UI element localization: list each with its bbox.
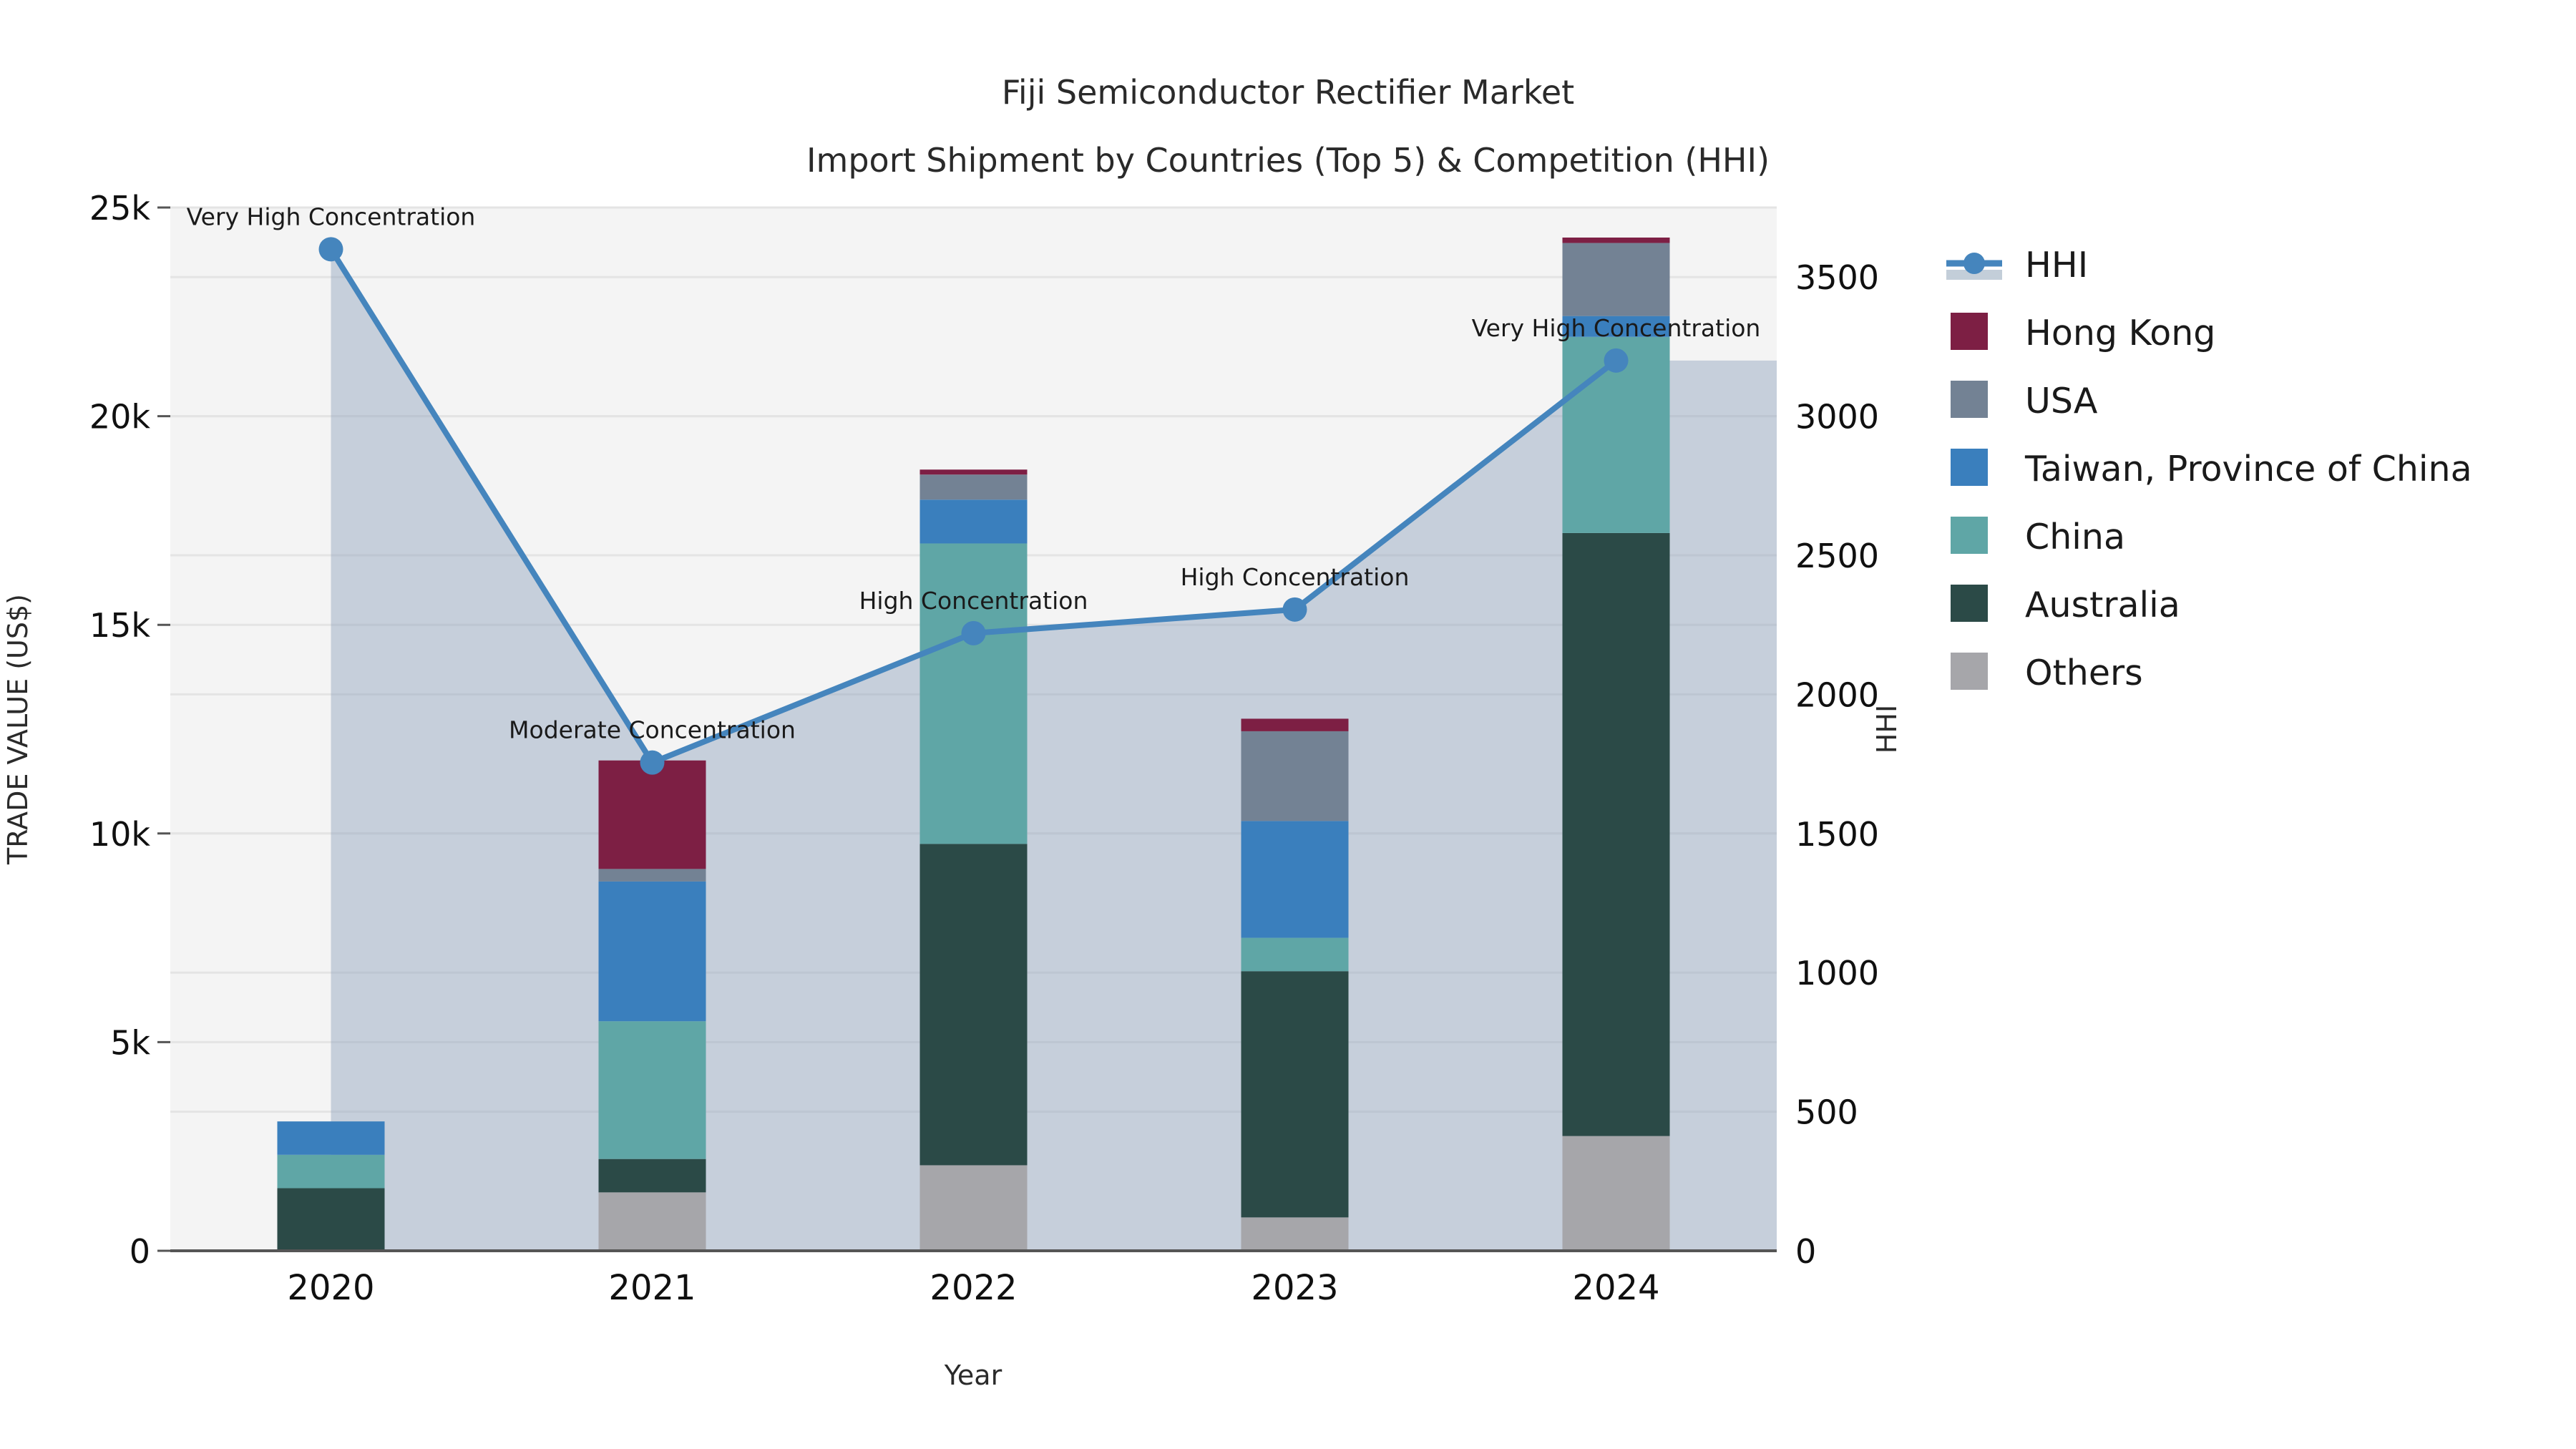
bar-segment — [1563, 533, 1670, 1136]
bar-segment — [599, 1192, 706, 1251]
bar-segment — [1241, 1217, 1349, 1251]
legend-item[interactable]: China — [1951, 517, 2125, 557]
bar-segment — [1241, 938, 1349, 972]
y-tick-label: 20k — [89, 398, 151, 436]
x-tick-label: 2022 — [930, 1268, 1017, 1308]
y2-tick-label: 0 — [1795, 1232, 1816, 1271]
y2-tick-label: 1500 — [1795, 815, 1879, 854]
legend-item[interactable]: Others — [1951, 653, 2143, 693]
bar-segment — [599, 761, 706, 869]
bar-segment — [278, 1189, 385, 1251]
bar-segment — [278, 1155, 385, 1189]
legend-label: Taiwan, Province of China — [2024, 449, 2472, 489]
bar-segment — [599, 1159, 706, 1193]
annotation-label: Very High Concentration — [187, 203, 476, 230]
y-axis-ticks: 05k10k15k20k25k — [89, 189, 170, 1271]
x-tick-label: 2021 — [608, 1268, 696, 1308]
bar-segment — [1563, 243, 1670, 316]
legend-item[interactable]: HHI — [1946, 245, 2088, 286]
legend-label: USA — [2025, 381, 2098, 421]
annotation-label: Very High Concentration — [1472, 314, 1761, 342]
y2-tick-label: 500 — [1795, 1093, 1858, 1132]
y2-tick-label: 1000 — [1795, 954, 1879, 992]
y-axis-label: TRADE VALUE (US$) — [2, 594, 34, 865]
chart-root: Fiji Semiconductor Rectifier Market Impo… — [0, 0, 2576, 1449]
legend-label: HHI — [2025, 245, 2088, 286]
annotation-label: High Concentration — [1181, 563, 1410, 591]
legend-label: Hong Kong — [2025, 313, 2215, 353]
bar-segment — [920, 474, 1028, 499]
bar-segment — [920, 469, 1028, 474]
bar-segment — [599, 869, 706, 881]
legend-label: China — [2025, 517, 2125, 557]
chart-svg: Fiji Semiconductor Rectifier Market Impo… — [0, 0, 2576, 1449]
y-tick-label: 15k — [89, 606, 151, 645]
x-axis-ticks: 20202021202220232024 — [287, 1268, 1659, 1308]
y2-axis-label: HHI — [1871, 705, 1903, 753]
legend-item[interactable]: Hong Kong — [1951, 313, 2215, 353]
bar-segment — [1241, 731, 1349, 821]
bar-segment — [278, 1121, 385, 1155]
y-tick-label: 0 — [130, 1232, 150, 1271]
y2-tick-label: 2000 — [1795, 675, 1879, 714]
y-tick-label: 10k — [89, 815, 151, 854]
legend-label: Australia — [2025, 585, 2180, 625]
bar-segment — [920, 1165, 1028, 1251]
chart-title-line1: Fiji Semiconductor Rectifier Market — [1002, 73, 1574, 112]
chart-legend[interactable]: HHIHong KongUSATaiwan, Province of China… — [1946, 245, 2472, 693]
y2-tick-label: 3000 — [1795, 398, 1879, 436]
y-tick-label: 25k — [89, 189, 151, 228]
annotation-label: Moderate Concentration — [509, 716, 796, 744]
bar-segment — [1241, 821, 1349, 937]
bar-segment — [920, 844, 1028, 1165]
y2-axis-ticks: 0500100015002000250030003500 — [1795, 258, 1879, 1271]
legend-label: Others — [2025, 653, 2143, 693]
bar-segment — [920, 499, 1028, 543]
bar-segment — [1241, 718, 1349, 731]
y2-tick-label: 3500 — [1795, 258, 1879, 297]
chart-title-line2: Import Shipment by Countries (Top 5) & C… — [806, 141, 1770, 180]
x-tick-label: 2024 — [1572, 1268, 1659, 1308]
x-tick-label: 2020 — [287, 1268, 374, 1308]
legend-item[interactable]: Australia — [1951, 585, 2180, 625]
bar-segment — [1241, 971, 1349, 1217]
bar-segment — [599, 1021, 706, 1158]
bar-segment — [1563, 1136, 1670, 1251]
y-tick-label: 5k — [110, 1023, 150, 1062]
x-axis-label: Year — [944, 1360, 1002, 1391]
annotation-label: High Concentration — [859, 587, 1088, 615]
x-tick-label: 2023 — [1251, 1268, 1338, 1308]
y2-tick-label: 2500 — [1795, 537, 1879, 575]
legend-item[interactable]: USA — [1951, 381, 2098, 421]
legend-item[interactable]: Taiwan, Province of China — [1951, 449, 2472, 489]
bar-segment — [1563, 238, 1670, 243]
bar-segment — [599, 882, 706, 1021]
